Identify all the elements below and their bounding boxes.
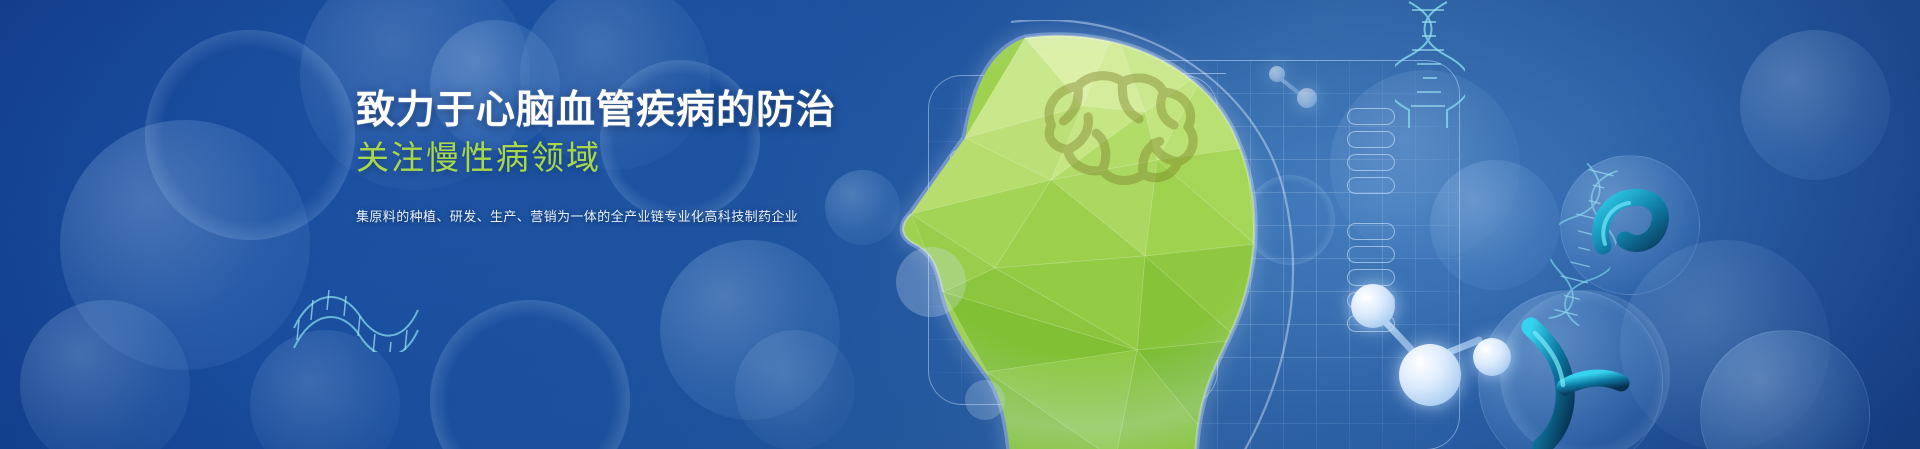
hud-slot (1347, 177, 1395, 194)
dna-helix (290, 262, 420, 352)
hero-banner: 致力于心脑血管疾病的防治 关注慢性病领域 集原料的种植、研发、生产、营销为一体的… (0, 0, 1920, 449)
hud-slot (1347, 131, 1395, 148)
molecule-node (1399, 344, 1461, 406)
cell-bokeh (1700, 330, 1870, 449)
hud-slot (1347, 108, 1395, 125)
cell-bokeh (1560, 155, 1700, 295)
mouth-bokeh (965, 380, 1005, 420)
molecule-node (1473, 338, 1511, 376)
banner-subline: 关注慢性病领域 (356, 136, 786, 180)
bacteria-icon (1561, 156, 1701, 296)
hud-slot (1347, 246, 1395, 263)
hud-slot (1347, 223, 1395, 240)
molecule-cluster (1265, 60, 1325, 120)
molecule-node (1351, 284, 1395, 328)
banner-tagline: 集原料的种植、研发、生产、营销为一体的全产业链专业化高科技制药企业 (356, 206, 786, 225)
hud-slot (1347, 154, 1395, 171)
bokeh-circle (1330, 70, 1520, 260)
low-poly-human-head (815, 20, 1335, 449)
molecule-node (1269, 66, 1285, 82)
dna-helix (1395, 0, 1465, 130)
bokeh-circle (430, 300, 630, 449)
bokeh-circle (660, 240, 840, 420)
bokeh-circle (250, 330, 400, 449)
eye-bokeh (896, 247, 966, 317)
bokeh-circle (1740, 30, 1890, 180)
banner-copy: 致力于心脑血管疾病的防治 关注慢性病领域 集原料的种植、研发、生产、营销为一体的… (356, 88, 786, 225)
molecule-node (1297, 88, 1317, 108)
banner-headline: 致力于心脑血管疾病的防治 (356, 88, 786, 134)
bokeh-circle (20, 300, 190, 449)
bokeh-circle (60, 120, 310, 370)
bokeh-circle (145, 30, 355, 240)
molecule-cluster (1345, 270, 1545, 430)
